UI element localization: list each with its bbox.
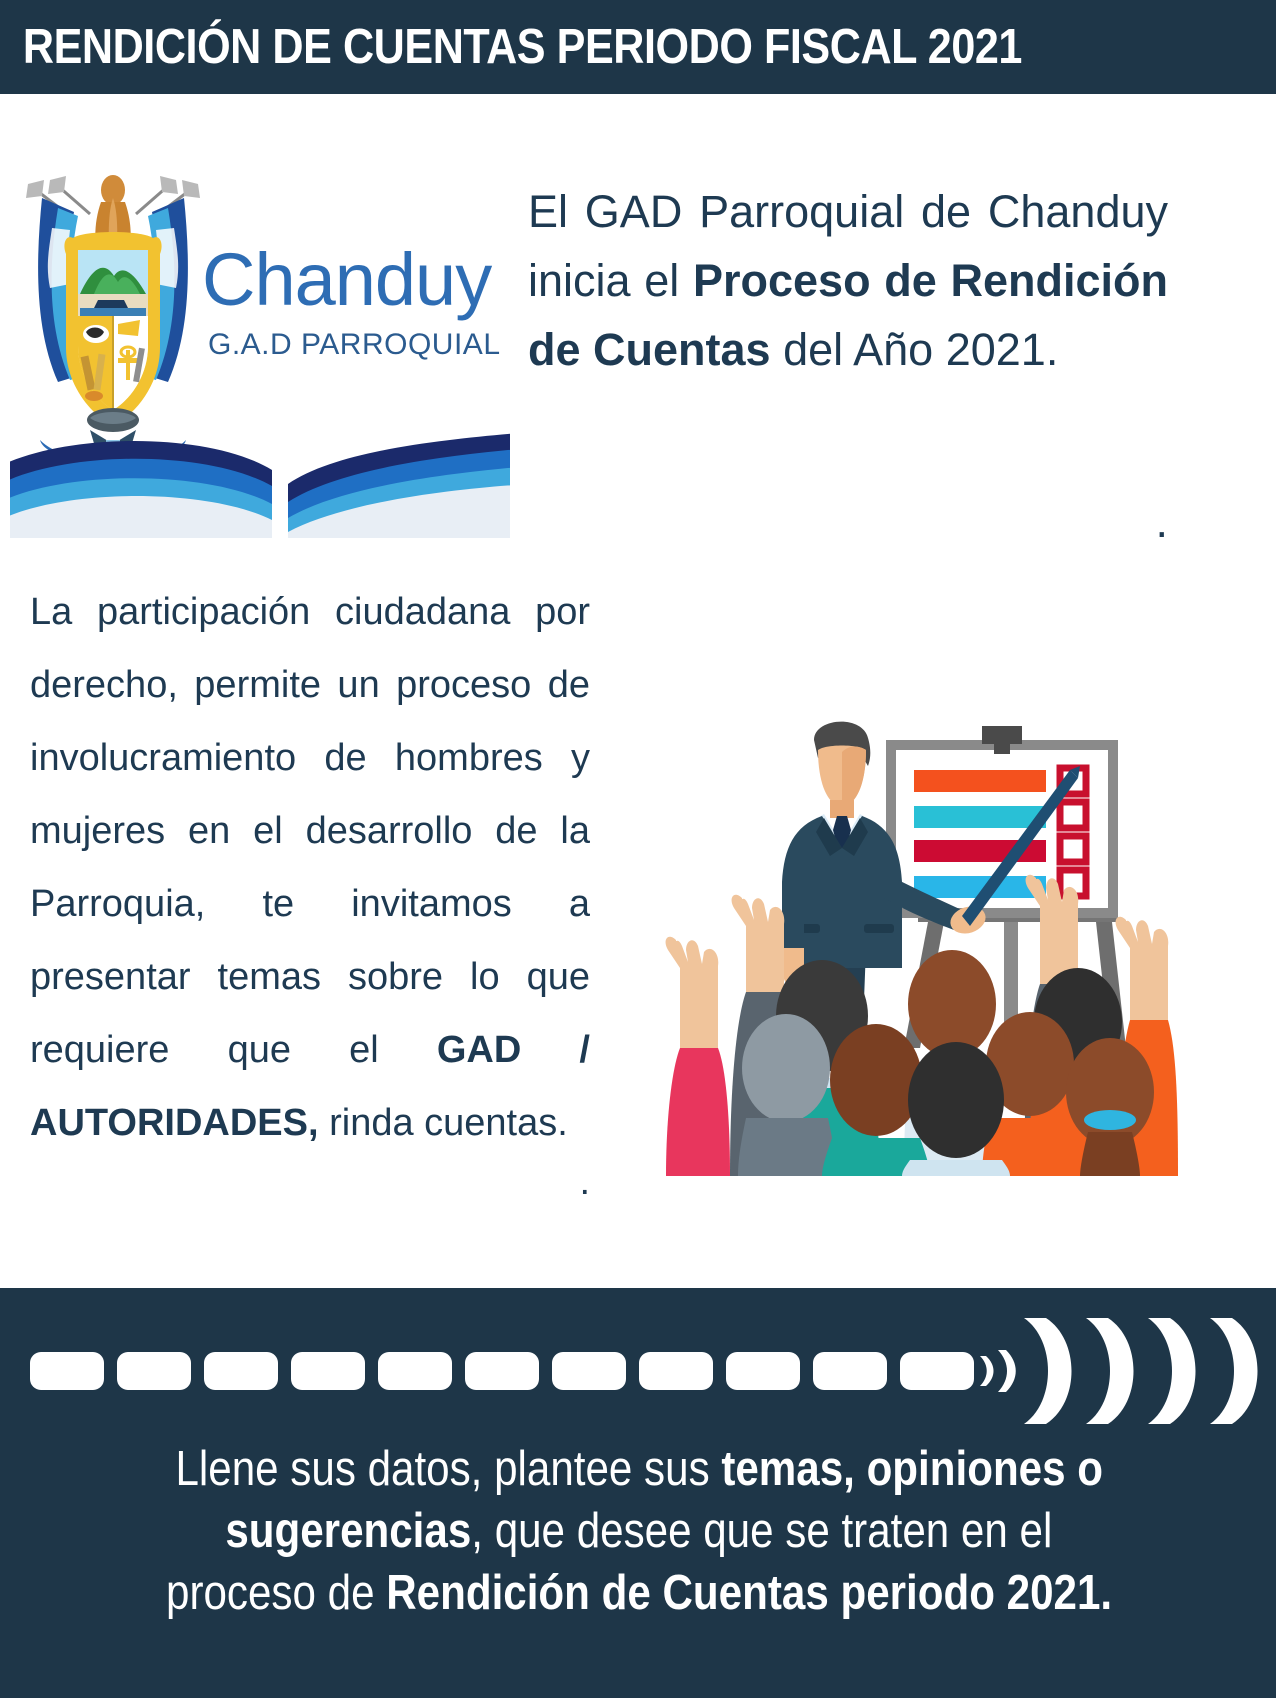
footer-line2-bold: sugerencias	[226, 1504, 472, 1558]
body-trailing-mark: .	[30, 1146, 590, 1219]
dashed-arrow-graphic	[0, 1316, 1276, 1426]
header-banner: RENDICIÓN DE CUENTAS PERIODO FISCAL 2021	[0, 0, 1276, 94]
footer-line3-bold: Rendición de Cuentas periodo 2021.	[386, 1566, 1112, 1620]
decorative-ribbon	[10, 426, 510, 538]
body-text-part2: rinda cuentas.	[319, 1102, 568, 1144]
coat-of-arms-icon: Chanduy	[18, 168, 208, 468]
body-paragraph: La participación ciudadana por derecho, …	[30, 576, 590, 1160]
organization-logo: Chanduy Chanduy G.A.D PARROQUIAL	[10, 148, 510, 548]
page-title: RENDICIÓN DE CUENTAS PERIODO FISCAL 2021	[0, 23, 1022, 72]
intro-paragraph: El GAD Parroquial de Chanduy inicia el P…	[528, 178, 1168, 385]
footer-line2-normal: , que desee que se traten en el	[471, 1504, 1052, 1558]
presentation-audience-illustration	[618, 648, 1180, 1176]
intro-text-part2: del Año 2021.	[771, 324, 1059, 375]
logo-wordmark: Chanduy	[202, 243, 491, 317]
intro-trailing-mark: .	[528, 488, 1168, 557]
footer-line1-normal: Llene sus datos, plantee sus	[175, 1442, 721, 1496]
footer-message: Llene sus datos, plantee sus temas, opin…	[26, 1438, 1252, 1625]
board-bar-1	[914, 770, 1046, 792]
logo-subtitle: G.A.D PARROQUIAL	[208, 328, 501, 362]
footer-line3-normal: proceso de	[166, 1566, 386, 1620]
footer-line1-bold: temas, opiniones o	[721, 1442, 1103, 1496]
board-bar-2	[914, 806, 1046, 828]
body-text-part1: La participación ciudadana por derecho, …	[30, 591, 590, 1071]
footer-band: Llene sus datos, plantee sus temas, opin…	[0, 1288, 1276, 1698]
